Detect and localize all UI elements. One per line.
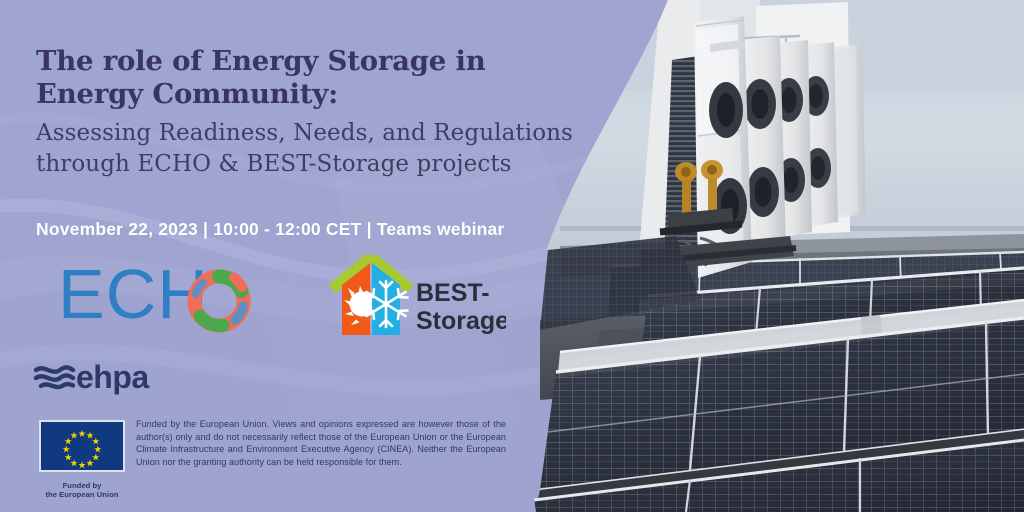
best-storage-line-2: Storage: [416, 307, 506, 335]
subtitle-line-1: Assessing Readiness, Needs, and Regulati…: [36, 118, 616, 149]
best-storage-line-1: BEST-: [416, 279, 490, 307]
eu-caption-line-2: the European Union: [36, 490, 128, 499]
house-sun-snowflake-icon: [332, 257, 410, 335]
eu-disclaimer-text: Funded by the European Union. Views and …: [136, 418, 506, 468]
eu-caption-line-1: Funded by: [36, 481, 128, 490]
best-storage-logo: BEST- Storage: [328, 255, 506, 346]
echo-logo: ECH: [58, 258, 268, 341]
waves-icon: [36, 367, 73, 387]
event-datetime: November 22, 2023 | 10:00 - 12:00 CET | …: [36, 219, 504, 240]
eu-flag-caption: Funded by the European Union: [36, 481, 128, 500]
page-title: The role of Energy Storage in Energy Com…: [36, 45, 616, 180]
ehpa-logo: ehpa: [32, 346, 182, 403]
title-line-2: Energy Community:: [36, 78, 616, 111]
content-column: The role of Energy Storage in Energy Com…: [0, 0, 660, 512]
title-line-1: The role of Energy Storage in: [36, 45, 616, 78]
ehpa-wordmark: ehpa: [76, 359, 149, 395]
european-union-flag: [39, 420, 125, 472]
eu-flag-column: Funded by the European Union: [36, 420, 128, 500]
page-subtitle: Assessing Readiness, Needs, and Regulati…: [36, 118, 616, 180]
subtitle-line-2: through ECHO & BEST-Storage projects: [36, 149, 616, 180]
webinar-banner: The role of Energy Storage in Energy Com…: [0, 0, 1024, 512]
echo-wordmark: ECH: [58, 258, 209, 333]
